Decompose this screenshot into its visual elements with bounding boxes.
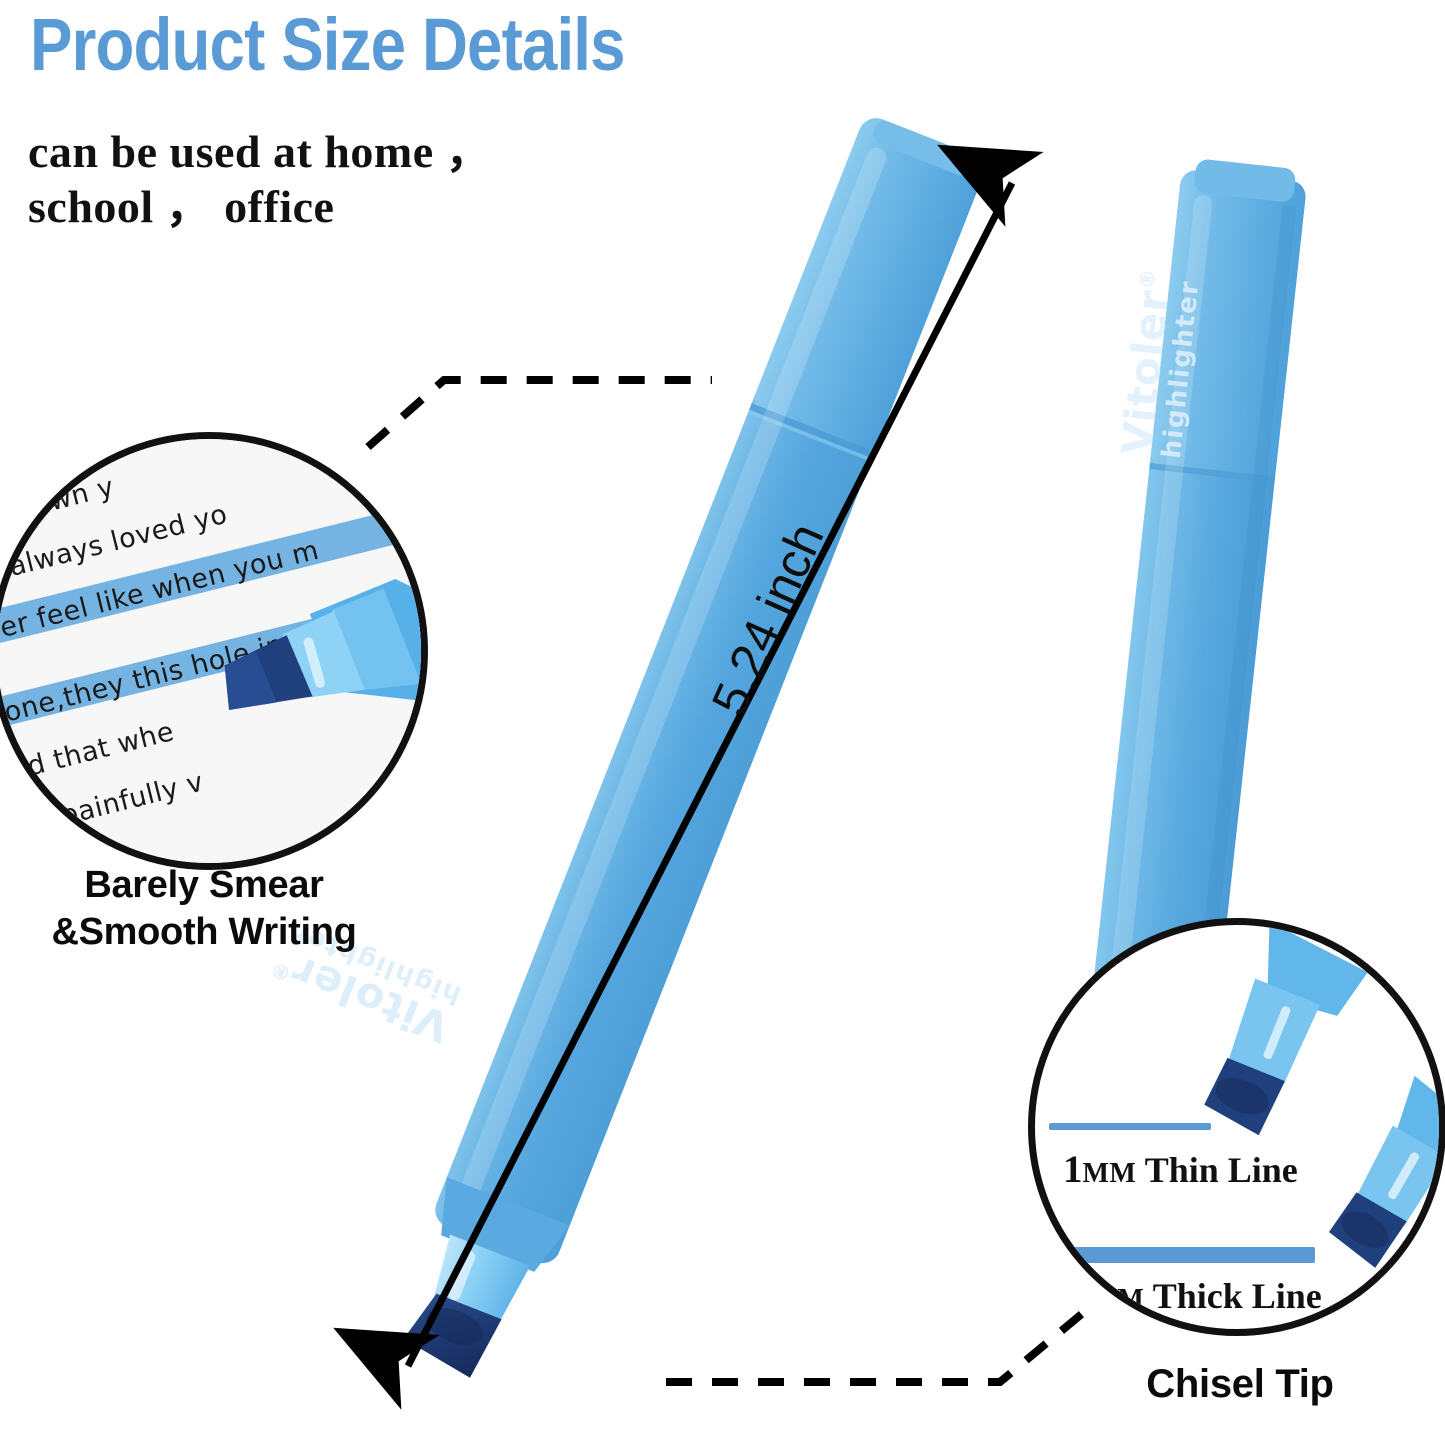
- dimension-label: 5.24 inch: [700, 515, 836, 724]
- page-title: Product Size Details: [30, 6, 625, 84]
- infographic-canvas: Product Size Details can be used at home…: [0, 0, 1445, 1435]
- registered-icon: ®: [1134, 267, 1160, 290]
- caption-smear: Barely Smear &Smooth Writing: [0, 862, 414, 956]
- chisel-tip-closeups: [1035, 925, 1439, 1329]
- dimension-arrow: [408, 183, 1012, 1366]
- inset-circle-smear: always known y s have always loved yo ou…: [0, 432, 428, 870]
- inset-circle-chisel: 1MM Thin Line 4MM Thick Line: [1028, 918, 1445, 1336]
- leader-line-smear: [368, 380, 712, 447]
- leader-line-chisel: [666, 1302, 1096, 1382]
- caption-chisel: Chisel Tip: [1060, 1362, 1420, 1407]
- brand-label-right: Vitoler® highlighter: [1112, 266, 1206, 460]
- highlighter-pen-left: [382, 113, 989, 1391]
- page-subtitle: can be used at home ， school ， office: [28, 124, 728, 234]
